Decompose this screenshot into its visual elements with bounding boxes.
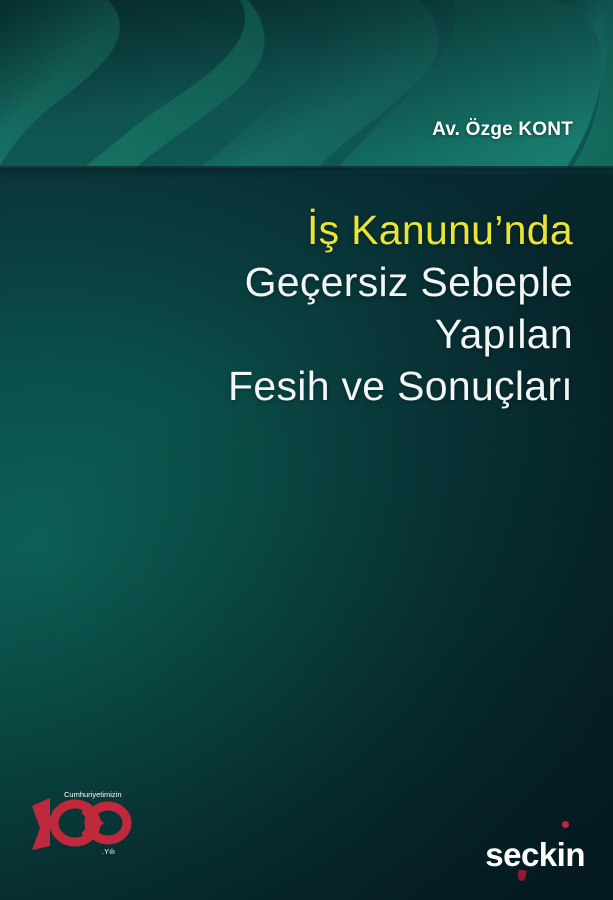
publisher-name: seckin bbox=[485, 838, 585, 872]
title-line-1: İş Kanunu’nda bbox=[53, 204, 573, 256]
centenary-logo: Cumhuriyetimizin .Yılı bbox=[28, 788, 143, 856]
header-wave-graphic bbox=[0, 0, 613, 174]
book-cover: Av. Özge KONT İş Kanunu’nda Geçersiz Seb… bbox=[0, 0, 613, 900]
book-title: İş Kanunu’nda Geçersiz Sebeple Yapılan F… bbox=[53, 204, 573, 412]
title-line-4: Fesih ve Sonuçları bbox=[53, 360, 573, 412]
title-line-3: Yapılan bbox=[53, 308, 573, 360]
publisher-logo: seckin bbox=[485, 830, 585, 872]
centenary-top-text: Cumhuriyetimizin bbox=[64, 790, 122, 799]
publisher-dot-icon bbox=[562, 821, 569, 828]
title-line-2: Geçersiz Sebeple bbox=[53, 256, 573, 308]
centenary-bottom-text: .Yılı bbox=[102, 847, 115, 856]
author-name: Av. Özge KONT bbox=[432, 119, 573, 141]
